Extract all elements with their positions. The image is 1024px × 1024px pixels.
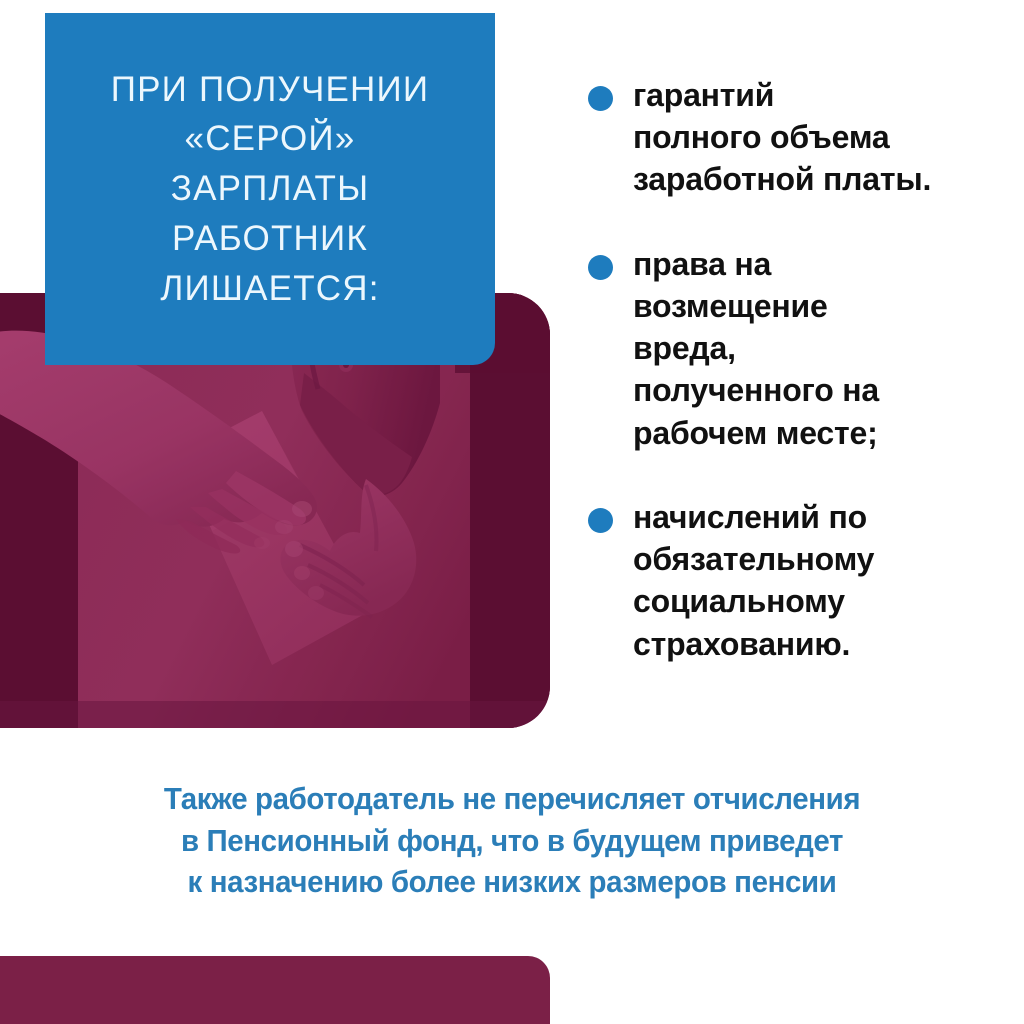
header-card: ПРИ ПОЛУЧЕНИИ «СЕРОЙ» ЗАРПЛАТЫ РАБОТНИК … <box>45 13 495 365</box>
list-item: начислений по обязательному социальному … <box>588 496 998 665</box>
page-title: ПРИ ПОЛУЧЕНИИ «СЕРОЙ» ЗАРПЛАТЫ РАБОТНИК … <box>97 65 443 313</box>
infographic-poster: ПРИ ПОЛУЧЕНИИ «СЕРОЙ» ЗАРПЛАТЫ РАБОТНИК … <box>0 0 1024 1024</box>
benefits-lost-list: гарантий полного объема заработной платы… <box>588 74 998 665</box>
list-item: права на возмещение вреда, полученного н… <box>588 243 998 454</box>
bullet-dot-icon <box>588 86 613 111</box>
bullet-dot-icon <box>588 508 613 533</box>
pension-fund-note: Также работодатель не перечисляет отчисл… <box>26 778 999 903</box>
list-item-text: гарантий полного объема заработной платы… <box>633 74 931 201</box>
list-item: гарантий полного объема заработной платы… <box>588 74 998 201</box>
list-item-text: начислений по обязательному социальному … <box>633 496 874 665</box>
list-item-text: права на возмещение вреда, полученного н… <box>633 243 879 454</box>
bullet-dot-icon <box>588 255 613 280</box>
footer-accent-bar <box>0 956 550 1024</box>
